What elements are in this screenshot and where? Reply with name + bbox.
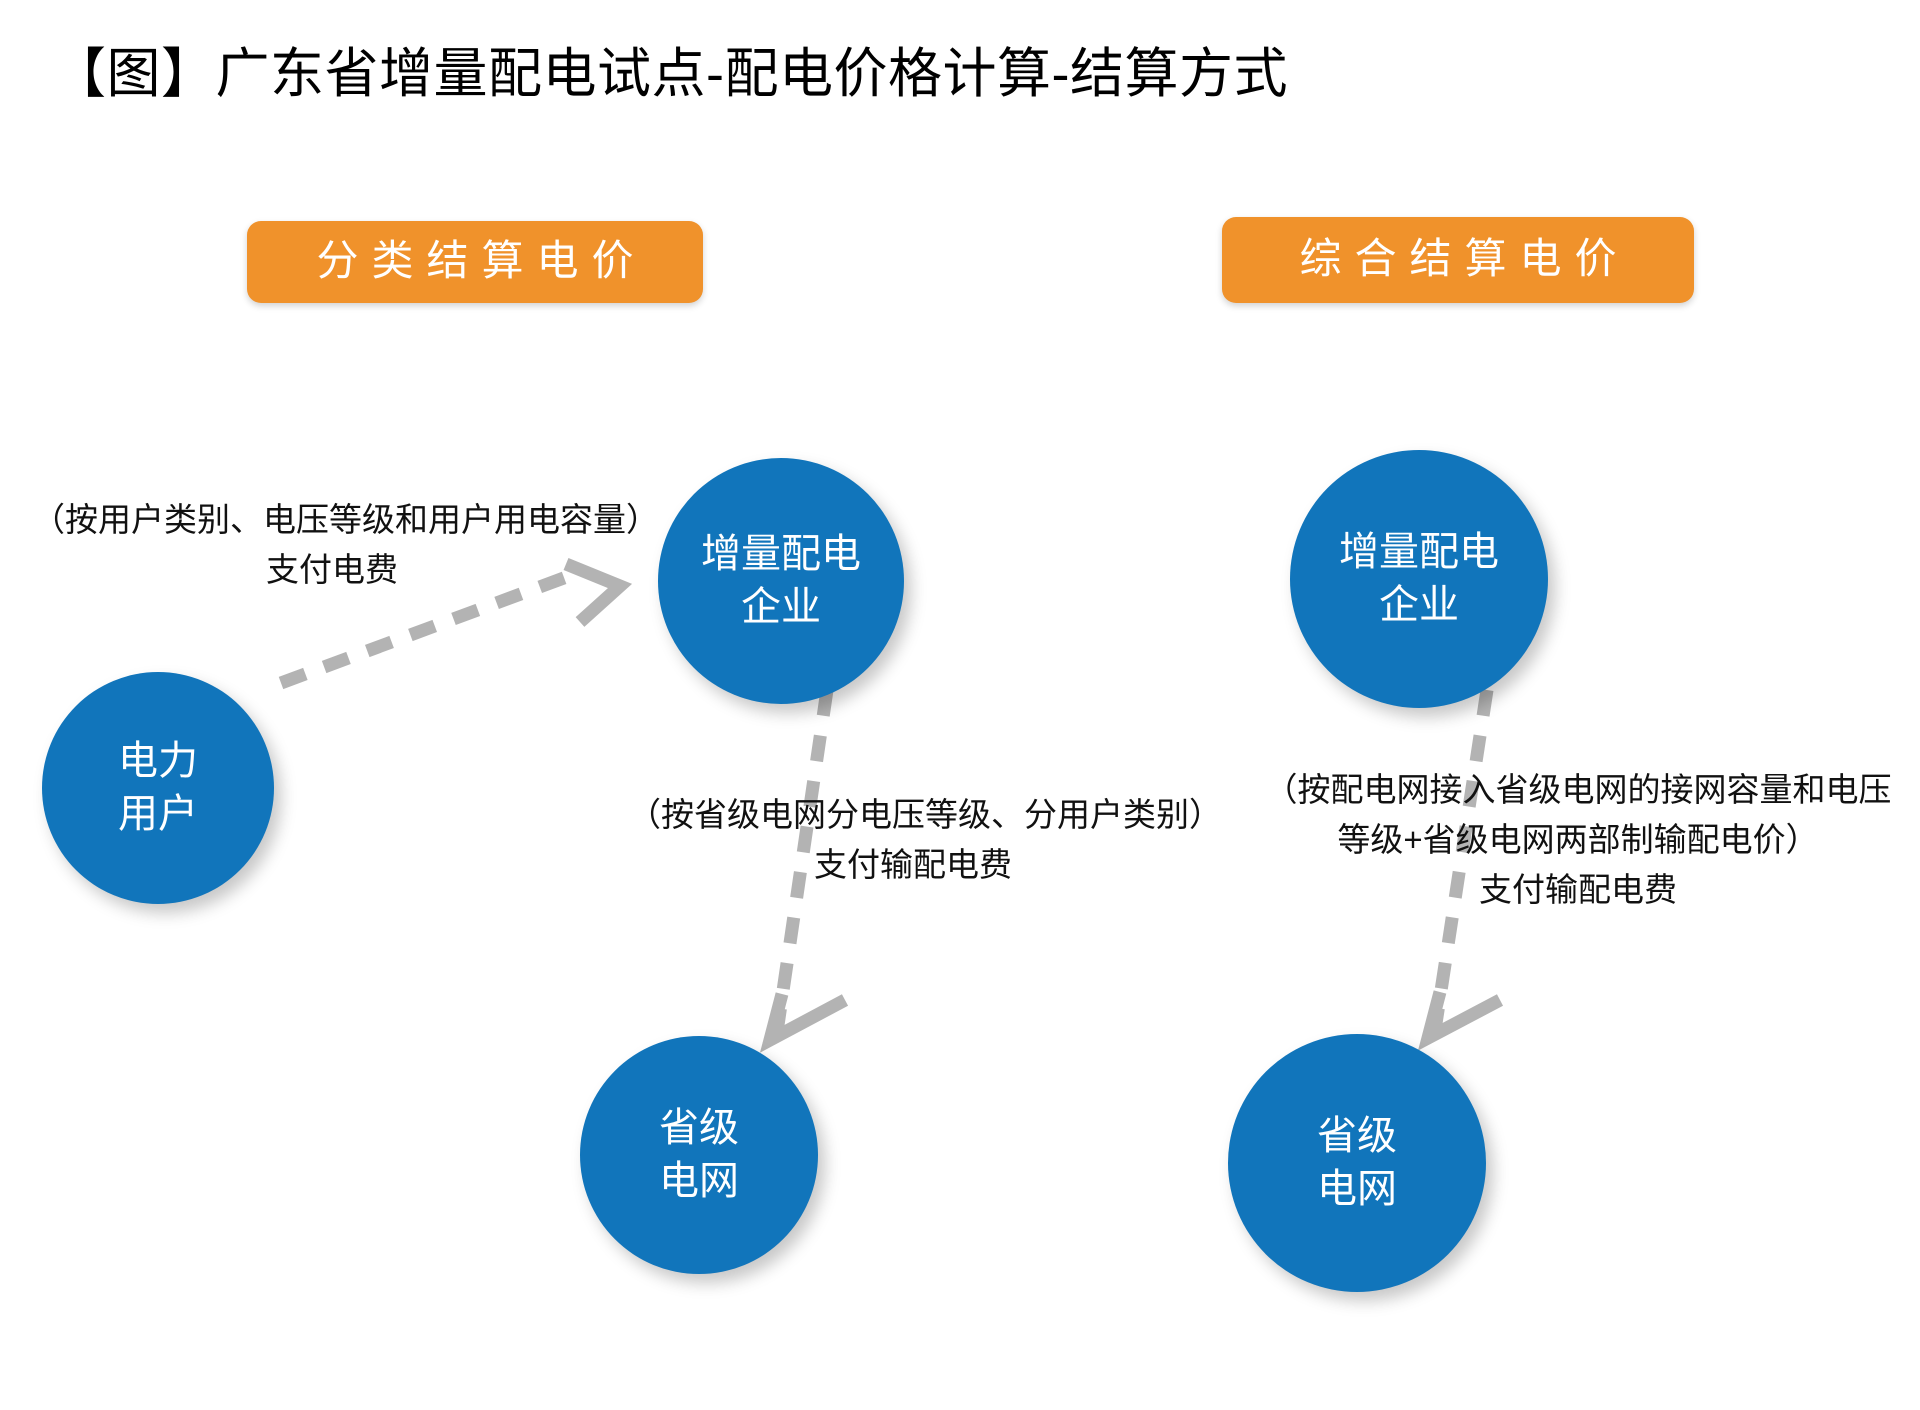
- page-title: 【图】广东省增量配电试点-配电价格计算-结算方式: [52, 38, 1288, 110]
- node-label-line-1: 电力: [118, 735, 198, 788]
- node-provincial-grid-left[interactable]: 省级 电网: [580, 1036, 818, 1274]
- badge-classified-settlement-price[interactable]: 分类结算电价: [247, 221, 703, 303]
- caption-line-2: 等级+省级电网两部制输配电价）: [1337, 821, 1818, 858]
- caption-line-1: （按配电网接入省级电网的接网容量和电压: [1265, 771, 1892, 808]
- node-label-line-2: 电网: [1317, 1163, 1397, 1216]
- node-provincial-grid-right[interactable]: 省级 电网: [1228, 1034, 1486, 1292]
- node-label-line-2: 用户: [118, 788, 198, 841]
- node-label-line-2: 企业: [1379, 579, 1459, 632]
- caption-line-3: 支付输配电费: [1479, 871, 1677, 908]
- caption-line-2: 支付电费: [266, 551, 398, 588]
- caption-line-2: 支付输配电费: [814, 846, 1012, 883]
- diagram-canvas: 【图】广东省增量配电试点-配电价格计算-结算方式 分类结算电价 综合结算电价 （…: [0, 0, 1920, 1410]
- node-label-line-1: 增量配电: [1339, 526, 1499, 579]
- caption-line-1: （按用户类别、电压等级和用户用电容量）: [32, 501, 659, 538]
- node-incremental-enterprise-right[interactable]: 增量配电 企业: [1290, 450, 1548, 708]
- node-power-user[interactable]: 电力 用户: [42, 672, 274, 904]
- node-incremental-enterprise-left[interactable]: 增量配电 企业: [658, 458, 904, 704]
- node-label-line-1: 增量配电: [701, 528, 861, 581]
- badge-comprehensive-settlement-price[interactable]: 综合结算电价: [1222, 217, 1694, 303]
- node-label-line-1: 省级: [659, 1102, 739, 1155]
- caption-user-to-enterprise: （按用户类别、电压等级和用户用电容量） 支付电费: [32, 495, 632, 595]
- caption-enterprise-to-grid-right: （按配电网接入省级电网的接网容量和电压 等级+省级电网两部制输配电价） 支付输配…: [1248, 765, 1908, 915]
- caption-enterprise-to-grid-left: （按省级电网分电压等级、分用户类别） 支付输配电费: [628, 790, 1198, 890]
- node-label-line-2: 企业: [741, 581, 821, 634]
- node-label-line-1: 省级: [1317, 1110, 1397, 1163]
- caption-line-1: （按省级电网分电压等级、分用户类别）: [628, 796, 1222, 833]
- connector-layer: [0, 0, 1920, 1410]
- node-label-line-2: 电网: [659, 1155, 739, 1208]
